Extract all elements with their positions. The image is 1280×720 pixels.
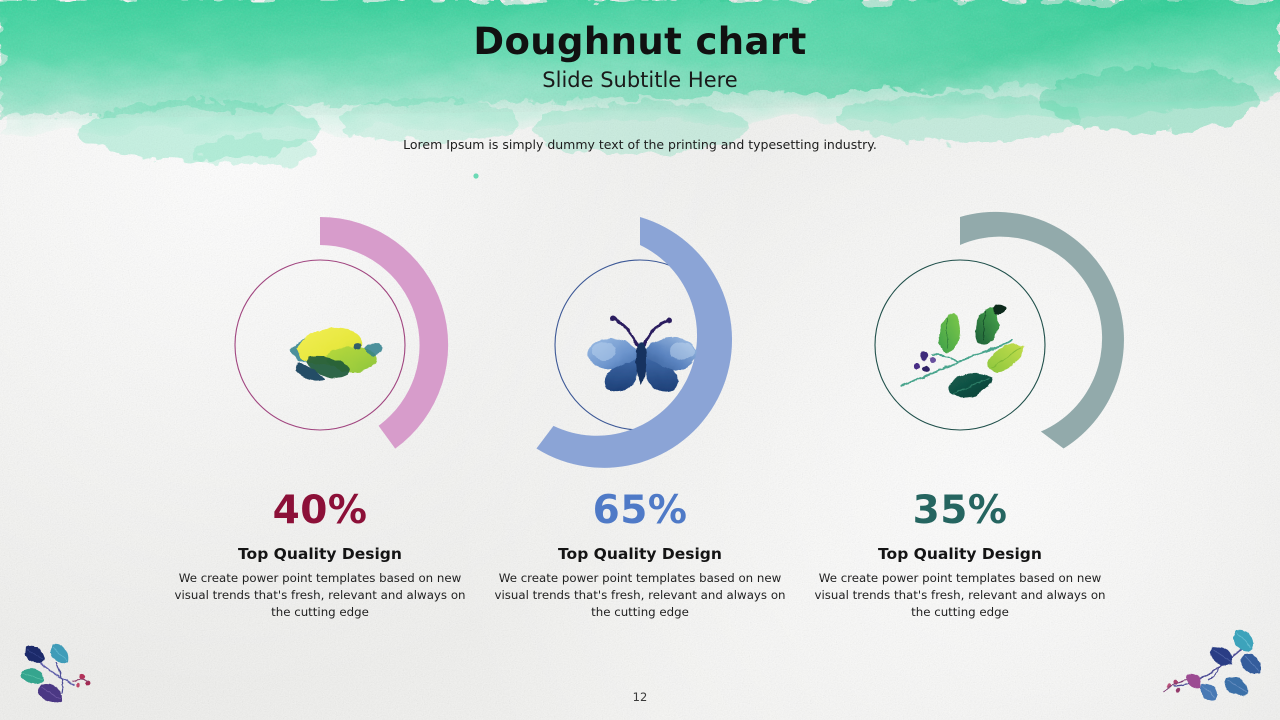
intro-paragraph: Lorem Ipsum is simply dummy text of the … bbox=[0, 137, 1280, 152]
donut-percent-2: 65% bbox=[470, 488, 810, 533]
donut-arc-2 bbox=[536, 217, 732, 468]
donut-title-2: Top Quality Design bbox=[470, 545, 810, 563]
donut-title-1: Top Quality Design bbox=[150, 545, 490, 563]
slide-subtitle: Slide Subtitle Here bbox=[0, 68, 1280, 92]
donut-outline-ring-1 bbox=[235, 260, 405, 430]
donut-outline-ring-3 bbox=[875, 260, 1045, 430]
donut-arc-3 bbox=[960, 212, 1124, 449]
donut-chart-2[interactable] bbox=[470, 205, 810, 495]
donut-column-2: 65% Top Quality Design We create power p… bbox=[470, 205, 810, 495]
donut-percent-1: 40% bbox=[150, 488, 490, 533]
watercolor-botanical-sprig-left bbox=[12, 633, 112, 718]
donut-title-3: Top Quality Design bbox=[790, 545, 1130, 563]
donut-chart-3[interactable] bbox=[790, 205, 1130, 495]
donut-column-1: 40% Top Quality Design We create power p… bbox=[150, 205, 490, 495]
slide-title: Doughnut chart bbox=[0, 20, 1280, 63]
donut-description-2: We create power point templates based on… bbox=[490, 570, 790, 621]
donut-chart-1[interactable] bbox=[150, 205, 490, 495]
donut-description-3: We create power point templates based on… bbox=[810, 570, 1110, 621]
wash-speck bbox=[473, 173, 478, 178]
donut-percent-3: 35% bbox=[790, 488, 1130, 533]
donut-column-3: 35% Top Quality Design We create power p… bbox=[790, 205, 1130, 495]
page-number: 12 bbox=[0, 690, 1280, 704]
donut-description-1: We create power point templates based on… bbox=[170, 570, 470, 621]
slide-canvas: Doughnut chart Slide Subtitle Here Lorem… bbox=[0, 0, 1280, 720]
donut-arc-1 bbox=[320, 217, 448, 449]
